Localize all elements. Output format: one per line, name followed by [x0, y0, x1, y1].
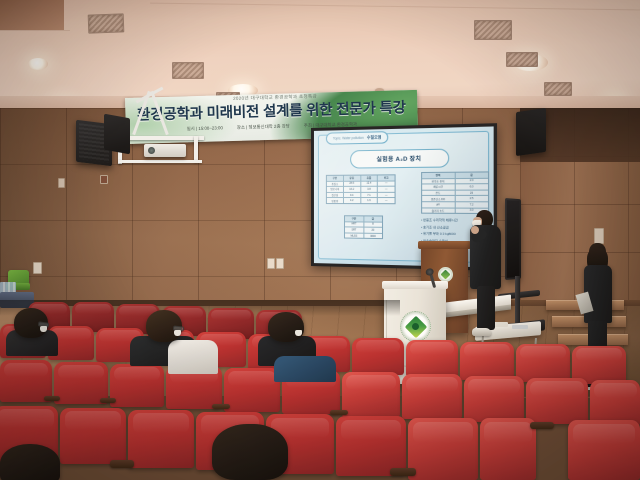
slide-table-cell: 2.0 — [455, 178, 488, 183]
seat[interactable] — [336, 416, 406, 476]
ceiling-air-vent — [544, 82, 572, 96]
wall-switch-plate[interactable] — [267, 258, 275, 269]
slide-table-cell: — — [378, 181, 394, 186]
seat-armrest — [100, 398, 116, 403]
slide-table-cell: 암모니아 — [327, 187, 344, 192]
scissor-arm — [150, 91, 169, 135]
slide-topic-kr: 수질오염 — [367, 135, 381, 140]
audience-member-head — [0, 444, 60, 480]
slide-table-cell: 8 — [364, 222, 382, 227]
slide-table-cell: HRT — [345, 222, 364, 227]
slide-topic-tab: Topic. Water pollution 수질오염 — [326, 131, 389, 145]
audience-seating — [0, 300, 640, 480]
rig-bar — [118, 136, 204, 140]
slide-table-cell: 체류시간 — [422, 185, 455, 190]
slide-title-oval: 실험용 A₂D 장치 — [350, 149, 449, 169]
seat[interactable] — [128, 410, 194, 468]
seat-armrest — [330, 410, 348, 415]
seat[interactable] — [568, 420, 640, 480]
seat[interactable] — [352, 338, 404, 375]
slide-table-cell: 25 — [455, 190, 488, 195]
projector — [144, 144, 186, 157]
slide-table-cell: 반응조 용적 — [422, 179, 455, 184]
slide-table-cell: 20 — [364, 228, 382, 233]
seat[interactable] — [408, 418, 478, 480]
projector-ceiling-mount — [118, 92, 204, 164]
wall-outlet — [100, 175, 108, 184]
seat[interactable] — [224, 368, 280, 412]
slide-topic-en: Topic. Water pollution — [333, 136, 364, 141]
slide-table-cell: 질산성 — [327, 193, 344, 198]
audience-member-body — [168, 340, 218, 374]
slide-table-header-cell: 값 — [364, 216, 382, 221]
ceiling-corner-beam — [0, 0, 64, 30]
flat-panel-tv — [505, 198, 521, 280]
slide-table-header-cell: 비고 — [378, 175, 394, 180]
seat-armrest — [44, 396, 60, 401]
wall-switch-plate[interactable] — [58, 178, 65, 188]
presenter-hand — [471, 226, 479, 234]
pa-speaker-left-2 — [104, 114, 130, 155]
slide-table-cell: — — [378, 193, 394, 198]
seat-armrest — [390, 468, 416, 476]
slide-table-cell: 7.1 — [361, 193, 378, 198]
wall-switch-plate[interactable] — [276, 258, 284, 269]
seat[interactable] — [60, 408, 126, 464]
slide-table-cell: 6.0 — [455, 184, 488, 189]
audience-member-head — [268, 312, 304, 342]
seat[interactable] — [516, 344, 570, 382]
seat[interactable] — [342, 372, 400, 417]
slide-table-cell: — — [378, 198, 394, 203]
slide-table-cell: 슬러지 농도 — [422, 208, 455, 213]
seat[interactable] — [110, 364, 164, 407]
slide-table-cell: 28.5 — [344, 181, 361, 186]
ceiling-air-vent — [474, 20, 512, 40]
slide-table-cell: 1.6 — [361, 198, 378, 203]
lecture-hall-photo: 2020년 대구대학교 환경공학과 초청특강 환경공학과 미래비전 설계를 위한… — [0, 0, 640, 480]
ceiling-air-vent — [506, 52, 538, 67]
slide-table-cell: 9.4 — [344, 193, 361, 198]
audience-member-body — [274, 356, 336, 382]
slide-table-cell: 용존산소 DO — [422, 196, 455, 201]
slide-title-text: 실험용 A₂D 장치 — [377, 154, 422, 163]
slide-table-header-cell: 유출 — [361, 175, 378, 180]
ceiling-air-vent — [88, 13, 125, 33]
slide-table-cell: 12.4 — [361, 181, 378, 186]
seat[interactable] — [402, 374, 462, 419]
podium-top-surface — [382, 281, 448, 289]
seat[interactable] — [526, 378, 588, 424]
ceiling-seam — [150, 3, 640, 11]
seat[interactable] — [460, 342, 514, 380]
slide-table-cell: 16.2 — [344, 187, 361, 192]
slide-table-left: 구분유입유출비고총질소28.512.4—암모니아16.23.8—질산성9.47.… — [326, 174, 396, 204]
ceiling-air-vent — [172, 62, 204, 79]
face-mask-icon — [40, 326, 47, 332]
pa-speaker-right — [516, 108, 546, 156]
slide-table-cell: 3.8 — [361, 187, 378, 192]
slide-table-header-cell: 구분 — [345, 216, 364, 221]
slide-table-header-cell: 유입 — [344, 176, 361, 181]
slide-table-cell: SRT — [345, 228, 364, 233]
tv-screen — [507, 200, 520, 278]
slide-table-header-cell: 항목 — [422, 173, 455, 178]
ceiling-downlight — [28, 58, 48, 70]
rig-bar — [118, 160, 202, 163]
seat[interactable] — [406, 340, 458, 377]
slide-table-header-cell: 구분 — [327, 176, 344, 181]
face-mask-icon — [295, 330, 302, 336]
audience-member-head — [212, 424, 288, 480]
lectern-top — [418, 241, 471, 249]
slide-table-cell: 4.2 — [344, 198, 361, 203]
wall-switch-plate[interactable] — [33, 262, 42, 274]
slide-table-small: 구분값HRT8SRT20MLSS3000 — [344, 215, 383, 239]
slide-table-cell: pH — [422, 202, 455, 207]
slide-table-cell: 인함량 — [327, 198, 344, 203]
slide-table-cell: MLSS — [345, 233, 364, 238]
slide-table-header-cell: 값 — [455, 172, 488, 177]
seat[interactable] — [480, 418, 536, 480]
seat-armrest — [530, 422, 554, 429]
seat-armrest — [110, 460, 134, 468]
slide-table-row: MLSS3000 — [345, 233, 382, 238]
slide-table-cell: — — [378, 187, 394, 192]
seat-armrest — [212, 404, 230, 409]
slide-table-cell: 총질소 — [327, 181, 344, 186]
slide-table-row: 인함량4.21.6— — [327, 198, 395, 203]
slide-table-cell: 온도 — [422, 190, 455, 195]
lectern-emblem-icon — [438, 267, 453, 282]
rig-post — [194, 136, 198, 162]
slide-table-cell: 2.5 — [455, 196, 488, 201]
projector-lens-icon — [148, 147, 155, 154]
slide-table-right: 항목값반응조 용적2.0체류시간6.0온도25용존산소 DO2.5pH7.2슬러… — [421, 171, 489, 214]
face-mask-icon — [174, 330, 181, 336]
seat[interactable] — [464, 376, 524, 422]
slide-table-cell: 3000 — [364, 233, 382, 238]
slide-table-cell: 7.2 — [455, 202, 488, 207]
ceiling-seam — [0, 30, 70, 31]
wall-sign-plate — [594, 228, 604, 244]
